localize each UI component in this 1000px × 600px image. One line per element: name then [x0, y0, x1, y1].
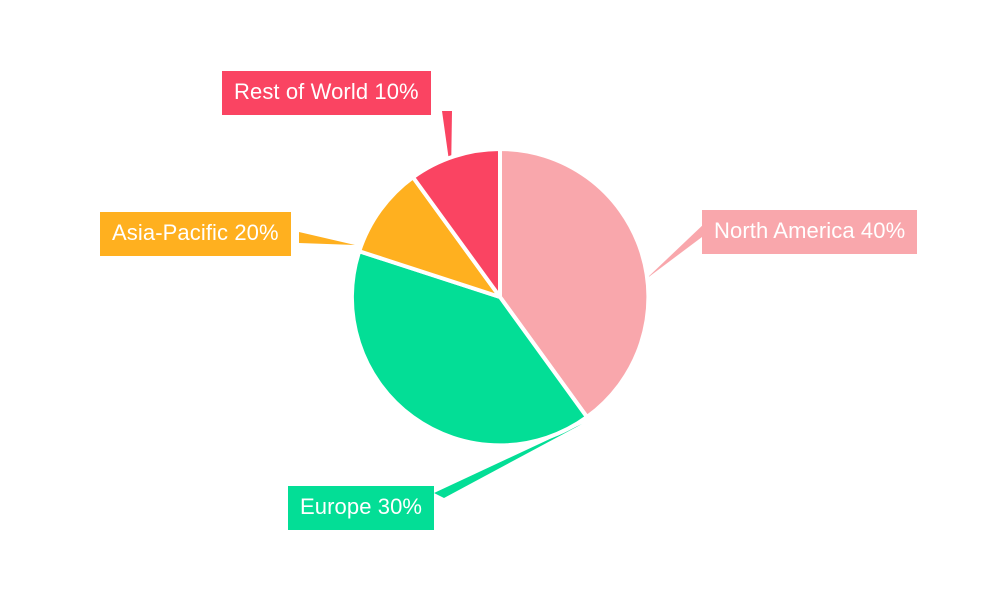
pie-label-europe: Europe 30% — [288, 486, 434, 530]
pie-label-asia-pacific: Asia-Pacific 20% — [100, 212, 291, 256]
pie-label-north-america: North America 40% — [702, 210, 917, 254]
leader-line-asia-pacific — [299, 232, 355, 245]
pie-label-rest-of-world: Rest of World 10% — [222, 71, 431, 115]
pie-chart: North America 40% Europe 30% Asia-Pacifi… — [0, 0, 1000, 600]
leader-line-north-america — [646, 222, 706, 279]
pie-chart-canvas — [0, 0, 1000, 600]
